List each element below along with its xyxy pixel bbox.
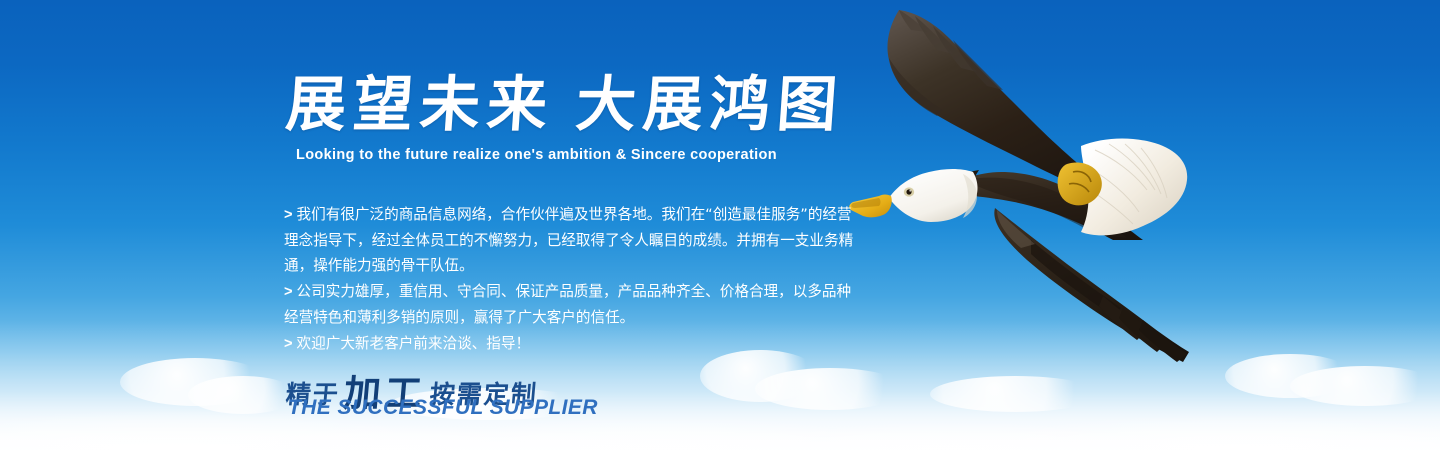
headline: 展望未来大展鸿图 [284,74,846,136]
banner-text-content: 展望未来大展鸿图 Looking to the future realize o… [0,0,880,450]
headline-subtitle: Looking to the future realize one's ambi… [296,147,777,163]
signature-english: THE SUCCESSFUL SUPPLIER [288,396,598,420]
bullet-marker: > [284,336,293,352]
bullet-marker: > [284,284,293,300]
cloud-puff [1290,366,1440,406]
bald-eagle-image [845,0,1265,396]
bullet-marker: > [284,207,293,223]
company-hero-banner: 展望未来大展鸿图 Looking to the future realize o… [0,0,1440,450]
headline-part-1: 展望未来 [284,70,557,140]
body-paragraph-text: 公司实力雄厚，重信用、守合同、保证产品质量，产品品种齐全、价格合理，以多品种经营… [284,283,851,326]
body-copy: >我们有很广泛的商品信息网络，合作伙伴遍及世界各地。我们在“创造最佳服务”的经营… [284,202,856,358]
headline-part-2: 大展鸿图 [574,70,847,140]
body-paragraph: >欢迎广大新老客户前来洽谈、指导！ [284,331,856,357]
body-paragraph-text: 我们有很广泛的商品信息网络，合作伙伴遍及世界各地。我们在“创造最佳服务”的经营理… [284,206,853,274]
body-paragraph-text: 欢迎广大新老客户前来洽谈、指导！ [297,335,531,352]
body-paragraph: >公司实力雄厚，重信用、守合同、保证产品质量，产品品种齐全、价格合理，以多品种经… [284,279,856,330]
body-paragraph: >我们有很广泛的商品信息网络，合作伙伴遍及世界各地。我们在“创造最佳服务”的经营… [284,202,856,278]
